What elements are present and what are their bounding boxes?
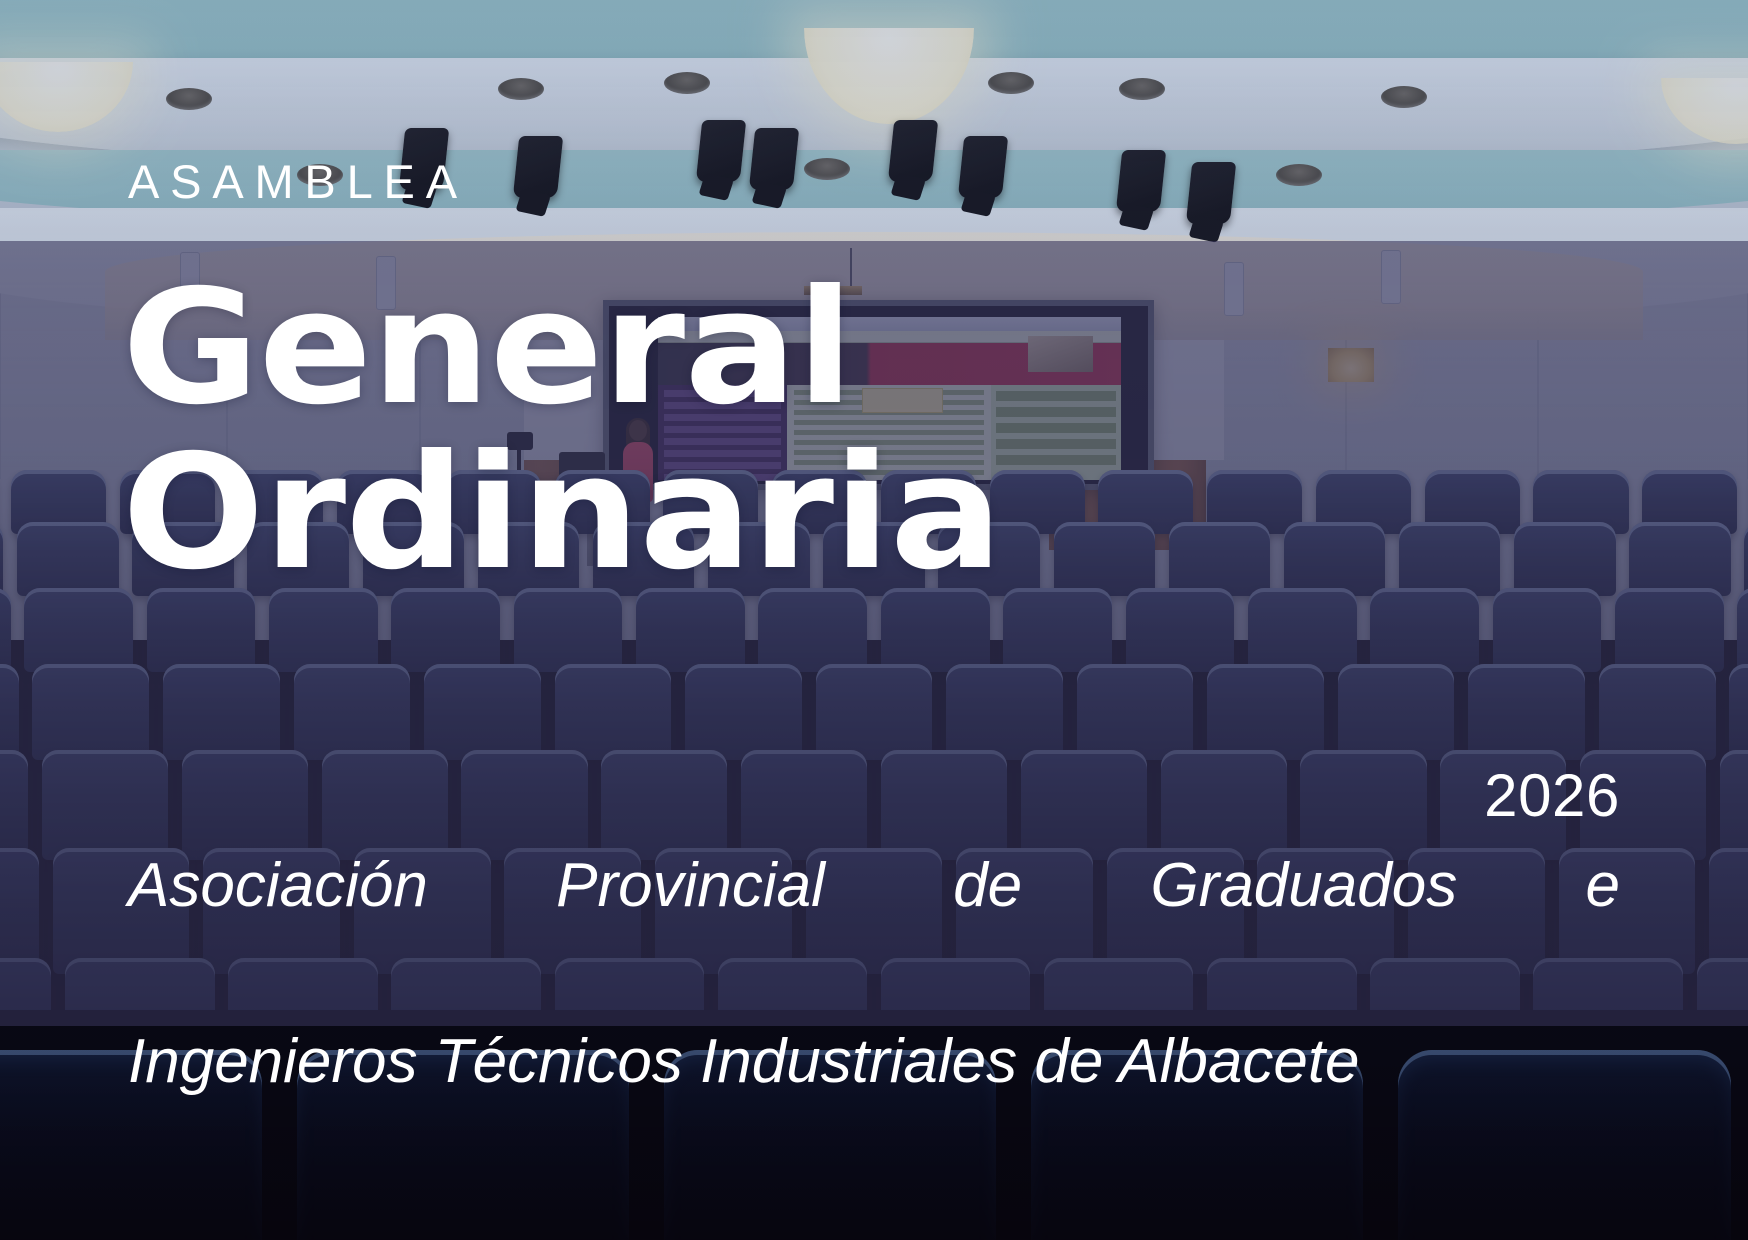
headline-line-2: Ordinaria	[122, 441, 1002, 586]
poster-content: ASAMBLEA General Ordinaria 2026 Asociaci…	[0, 0, 1748, 1240]
year-label: 2026	[1484, 766, 1620, 826]
headline-line-1: General	[122, 276, 853, 421]
subtitle-line-2: Ingenieros Técnicos Industriales de Alba…	[128, 1018, 1620, 1106]
organization-subtitle: Asociación Provincial de Graduados e Ing…	[128, 842, 1620, 1106]
page-title: General Ordinaria	[122, 276, 952, 587]
poster-canvas: ASAMBLEA General Ordinaria 2026 Asociaci…	[0, 0, 1748, 1240]
kicker-text: ASAMBLEA	[128, 158, 468, 205]
subtitle-line-1: Asociación Provincial de Graduados e	[128, 842, 1620, 1018]
